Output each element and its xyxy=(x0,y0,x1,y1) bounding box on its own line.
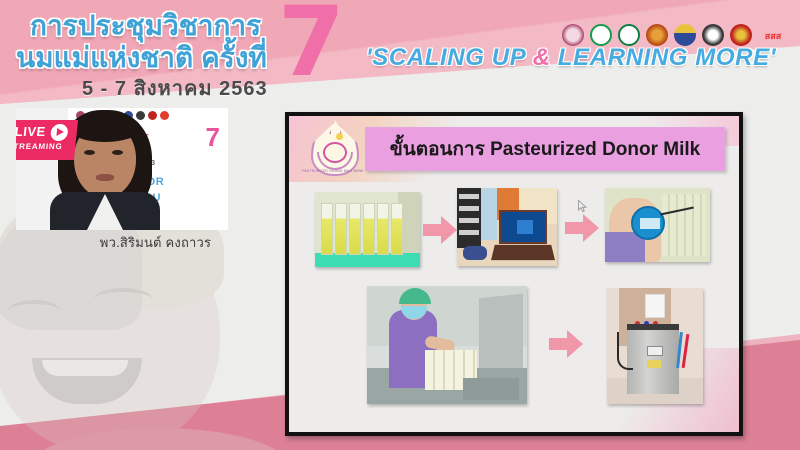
nursing-council-logo xyxy=(730,24,752,46)
process-arrow-1 xyxy=(423,216,457,244)
photo-milk-bottle-rack xyxy=(315,192,420,267)
photo-pasteurizer-machine xyxy=(607,288,703,404)
conference-edition-number: 7 xyxy=(278,0,345,90)
mouse-pointer-icon xyxy=(578,200,588,214)
national-health-foundation-logo xyxy=(702,24,724,46)
slide-panel: PASTEURIZED HUMAN MILK BANK ขั้นตอนการ P… xyxy=(285,112,743,436)
photo-digital-thermometer-check xyxy=(605,188,710,262)
royal-emblem-logo xyxy=(562,24,584,46)
speaker-name-label: พว.สิริมนต์ คงถาวร xyxy=(48,232,263,253)
conference-slogan: 'SCALING UP & LEARNING MORE' xyxy=(366,44,776,72)
photo-nurse-loading-bottles xyxy=(367,286,527,404)
slide-title-text: ขั้นตอนการ Pasteurized Donor Milk xyxy=(390,134,700,164)
pasteurized-human-milk-bank-logo: PASTEURIZED HUMAN MILK BANK xyxy=(303,122,363,184)
thaihealth-sss-logo: สสส xyxy=(758,26,788,46)
logo-caption: PASTEURIZED HUMAN MILK BANK xyxy=(299,169,367,173)
ministry-of-public-health-logo xyxy=(618,24,640,46)
photo-laptop-workstation xyxy=(457,188,557,266)
play-icon xyxy=(50,124,69,141)
process-arrow-3 xyxy=(549,330,583,358)
bangkok-metropolitan-logo xyxy=(646,24,668,46)
slogan-part-2: LEARNING MORE' xyxy=(551,44,776,71)
sponsor-logo-strip: สสส xyxy=(562,24,788,46)
process-arrow-2 xyxy=(565,214,599,242)
screen: การประชุมวิชาการ นมแม่แห่งชาติ ครั้งที่ … xyxy=(0,0,800,450)
speaker-video-feed[interactable]: การประชุมวิชาการ นมแม่แห่งชาติ ครั้งที่ … xyxy=(16,108,228,230)
thai-breastfeeding-center-logo xyxy=(590,24,612,46)
thumbnail-edition-number: 7 xyxy=(206,124,220,150)
slide-title-banner: ขั้นตอนการ Pasteurized Donor Milk xyxy=(365,127,725,171)
live-streaming-badge: LIVE STREAMING xyxy=(16,120,78,160)
slogan-ampersand: & xyxy=(533,44,551,71)
slogan-part-1: 'SCALING UP xyxy=(366,44,533,71)
live-badge-text: LIVE xyxy=(16,124,47,139)
streaming-badge-text: STREAMING xyxy=(16,142,63,151)
conference-date: 5 - 7 สิงหาคม 2563 xyxy=(82,72,268,104)
royal-thai-government-logo xyxy=(674,24,696,46)
